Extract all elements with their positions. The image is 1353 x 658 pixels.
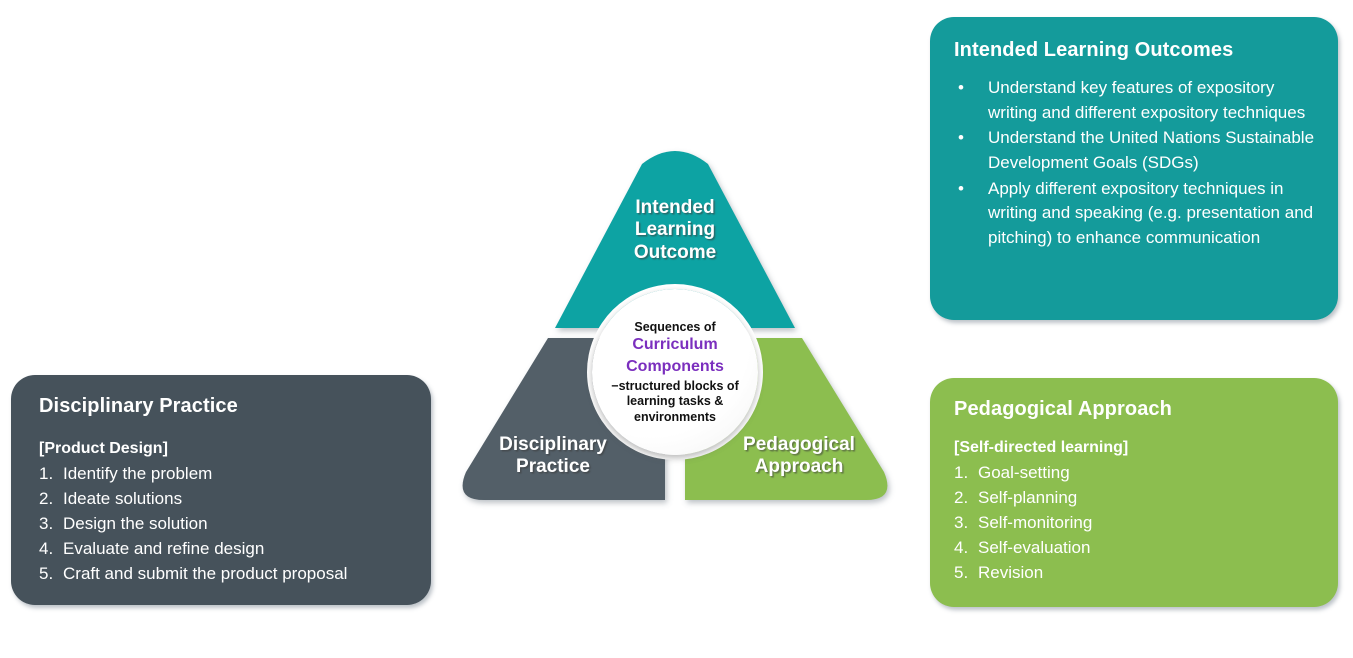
panel-pedagogical-approach: Pedagogical Approach [Self-directed lear… <box>930 378 1338 607</box>
list-item: 3. Self-monitoring <box>954 511 1318 536</box>
list-item-number: 3. <box>954 511 978 536</box>
list-item: • Understand the United Nations Sustaina… <box>954 126 1318 175</box>
panel-disciplinary-practice-subtitle: [Product Design] <box>39 440 407 458</box>
list-item-number: 2. <box>954 486 978 511</box>
list-item-number: 5. <box>39 562 63 587</box>
list-item-label: Understand the United Nations Sustainabl… <box>988 126 1318 175</box>
curriculum-triangle-diagram: Intended Learning Outcome Disciplinary P… <box>452 142 898 517</box>
triangle-label-line: Pedagogical <box>704 434 894 456</box>
list-item-label: Design the solution <box>63 512 208 537</box>
circle-line-learning-tasks: learning tasks & <box>627 394 724 409</box>
curriculum-components-circle: Sequences of Curriculum Components −stru… <box>592 289 758 455</box>
list-item: 5. Craft and submit the product proposal <box>39 562 407 587</box>
bullet-icon: • <box>954 177 988 202</box>
list-item-label: Identify the problem <box>63 462 212 487</box>
circle-line-curriculum: Curriculum <box>632 336 717 355</box>
triangle-label-line: Practice <box>458 456 648 478</box>
list-item: • Apply different expository techniques … <box>954 177 1318 251</box>
triangle-label-line: Intended <box>595 197 755 219</box>
list-item: 4. Evaluate and refine design <box>39 537 407 562</box>
list-item: • Understand key features of expository … <box>954 76 1318 125</box>
list-item-label: Self-planning <box>978 486 1077 511</box>
circle-line-sequences-of: Sequences of <box>634 320 715 335</box>
list-item-number: 1. <box>954 461 978 486</box>
bullet-icon: • <box>954 126 988 151</box>
list-item: 3. Design the solution <box>39 512 407 537</box>
panel-pedagogical-approach-subtitle: [Self-directed learning] <box>954 439 1318 457</box>
panel-disciplinary-practice: Disciplinary Practice [Product Design] 1… <box>11 375 431 605</box>
circle-line-components: Components <box>626 358 724 377</box>
list-item-label: Self-monitoring <box>978 511 1092 536</box>
list-item-label: Self-evaluation <box>978 536 1090 561</box>
list-item: 1. Identify the problem <box>39 462 407 487</box>
triangle-label-line: Outcome <box>595 242 755 264</box>
panel-intended-learning-outcomes: Intended Learning Outcomes • Understand … <box>930 17 1338 320</box>
list-item-label: Ideate solutions <box>63 487 182 512</box>
list-item: 4. Self-evaluation <box>954 536 1318 561</box>
disciplinary-practice-list: 1. Identify the problem 2. Ideate soluti… <box>39 462 407 587</box>
list-item-label: Apply different expository techniques in… <box>988 177 1318 251</box>
triangle-label-disciplinary-practice: Disciplinary Practice <box>458 434 648 479</box>
list-item: 5. Revision <box>954 561 1318 586</box>
list-item: 2. Ideate solutions <box>39 487 407 512</box>
panel-intended-learning-outcomes-title: Intended Learning Outcomes <box>954 39 1318 62</box>
list-item-number: 5. <box>954 561 978 586</box>
intended-learning-outcomes-list: • Understand key features of expository … <box>954 76 1318 250</box>
panel-pedagogical-approach-title: Pedagogical Approach <box>954 398 1318 421</box>
list-item-number: 4. <box>954 536 978 561</box>
list-item-label: Goal-setting <box>978 461 1070 486</box>
list-item-label: Craft and submit the product proposal <box>63 562 347 587</box>
list-item-number: 4. <box>39 537 63 562</box>
list-item-label: Evaluate and refine design <box>63 537 264 562</box>
circle-line-environments: environments <box>634 410 716 425</box>
triangle-label-line: Approach <box>704 456 894 478</box>
list-item-label: Revision <box>978 561 1043 586</box>
panel-disciplinary-practice-title: Disciplinary Practice <box>39 395 407 418</box>
list-item: 1. Goal-setting <box>954 461 1318 486</box>
triangle-label-pedagogical-approach: Pedagogical Approach <box>704 434 894 479</box>
list-item-number: 1. <box>39 462 63 487</box>
triangle-label-line: Disciplinary <box>458 434 648 456</box>
list-item-label: Understand key features of expository wr… <box>988 76 1318 125</box>
list-item: 2. Self-planning <box>954 486 1318 511</box>
bullet-icon: • <box>954 76 988 101</box>
diagram-canvas: Disciplinary Practice [Product Design] 1… <box>0 0 1353 658</box>
list-item-number: 3. <box>39 512 63 537</box>
circle-line-structured-blocks: −structured blocks of <box>611 379 738 394</box>
triangle-label-intended-learning-outcome: Intended Learning Outcome <box>595 197 755 264</box>
triangle-label-line: Learning <box>595 219 755 241</box>
pedagogical-approach-list: 1. Goal-setting 2. Self-planning 3. Self… <box>954 461 1318 586</box>
list-item-number: 2. <box>39 487 63 512</box>
